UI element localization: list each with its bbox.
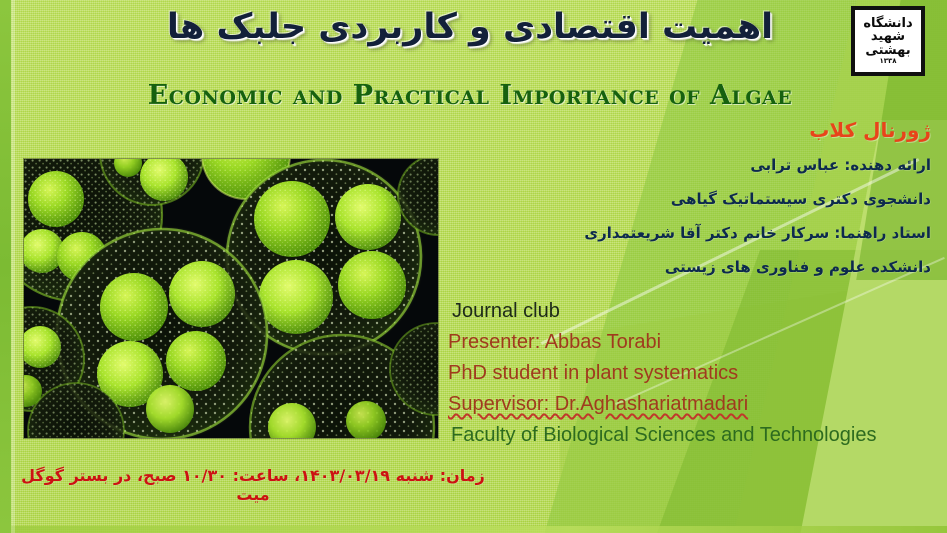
persian-student-line: دانشجوی دکتری سیستماتیک گیاهی (511, 190, 931, 208)
persian-presenter-line: ارائه دهنده: عباس ترابی (511, 156, 931, 174)
english-supervisor-line: Supervisor: Dr.Aghashariatmadari (448, 389, 918, 420)
session-datetime-persian: زمان: شنبه ۱۴۰۳/۰۳/۱۹، ساعت: ۱۰/۳۰ صبح، … (18, 466, 488, 504)
persian-faculty-line: دانشکده علوم و فناوری های زیستی (511, 258, 931, 276)
volvox-illustration (24, 159, 438, 438)
english-faculty-line: Faculty of Biological Sciences and Techn… (448, 420, 918, 451)
persian-supervisor-line: استاد راهنما: سرکار خانم دکتر آقا شریعتم… (511, 224, 931, 242)
presentation-slide: دانشگاه شهید بهشتی ۱۳۳۸ اهمیت اقتصادی و … (0, 0, 947, 533)
english-journal-club-label: Journal club (448, 296, 918, 327)
logo-line-2: شهید (871, 30, 905, 43)
english-info-block: Journal club Presenter: Abbas Torabi PhD… (448, 296, 918, 451)
left-edge-highlight (11, 0, 15, 533)
slide-title-persian: اهمیت اقتصادی و کاربردی جلبک ها (120, 7, 820, 47)
university-logo: دانشگاه شهید بهشتی ۱۳۳۸ (851, 6, 925, 76)
english-presenter-line: Presenter: Abbas Torabi (448, 327, 918, 358)
persian-journal-club-label: ژورنال کلاب (511, 118, 931, 142)
slide-title-english: Economic and Practical Importance of Alg… (110, 80, 830, 111)
logo-year: ۱۳۳۸ (879, 58, 896, 65)
left-edge-strip (0, 0, 11, 533)
logo-calligraphy: دانشگاه شهید بهشتی ۱۳۳۸ (855, 10, 921, 72)
logo-line-1: دانشگاه (863, 17, 912, 30)
persian-info-block: ژورنال کلاب ارائه دهنده: عباس ترابی دانش… (511, 118, 931, 292)
algae-micrograph-image (24, 159, 438, 438)
decor-bottom-band (0, 526, 947, 533)
logo-line-3: بهشتی (865, 44, 910, 57)
english-student-line: PhD student in plant systematics (448, 358, 918, 389)
